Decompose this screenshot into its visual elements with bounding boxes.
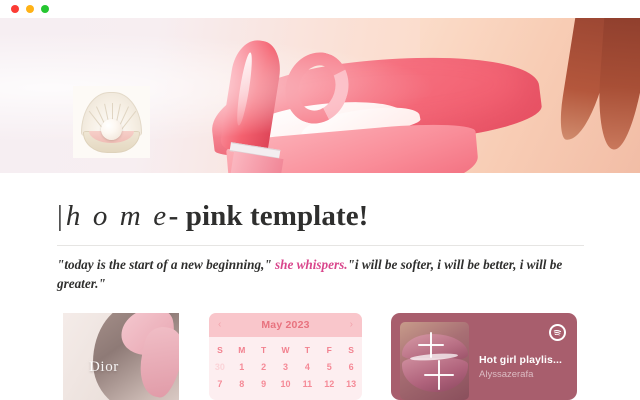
widgets-row: Dior ‹ May 2023 › S M T W T F S 30 1 2 bbox=[0, 307, 640, 400]
quote-part-1: "today is the start of a new beginning," bbox=[57, 257, 272, 272]
calendar-day[interactable]: 13 bbox=[340, 379, 362, 389]
page-content: |h o m e- pink template! "today is the s… bbox=[0, 173, 640, 293]
calendar-month-label: May 2023 bbox=[261, 319, 309, 331]
calendar-dow: W bbox=[275, 345, 297, 355]
calendar-dow: T bbox=[296, 345, 318, 355]
dior-image-card[interactable]: Dior bbox=[63, 313, 179, 400]
album-sparkle bbox=[430, 332, 432, 358]
spotify-embed-card[interactable]: Hot girl playlis... Alyssazerafa bbox=[391, 313, 577, 400]
close-button[interactable] bbox=[11, 5, 19, 13]
calendar-prev-button[interactable]: ‹ bbox=[218, 320, 221, 330]
calendar-week-row: 7 8 9 10 11 12 13 bbox=[209, 372, 362, 389]
calendar-dow: M bbox=[231, 345, 253, 355]
calendar-day[interactable]: 4 bbox=[296, 362, 318, 372]
calendar-weekday-row: S M T W T F S bbox=[209, 337, 362, 355]
spotify-playlist-owner: Alyssazerafa bbox=[479, 369, 571, 380]
calendar-day[interactable]: 1 bbox=[231, 362, 253, 372]
maximize-button[interactable] bbox=[41, 5, 49, 13]
page-title-home: h o m e bbox=[63, 200, 169, 232]
spotify-icon[interactable] bbox=[549, 324, 566, 341]
calendar-day[interactable]: 5 bbox=[318, 362, 340, 372]
calendar-header: ‹ May 2023 › bbox=[209, 313, 362, 337]
calendar-day[interactable]: 11 bbox=[296, 379, 318, 389]
spotify-album-art bbox=[400, 322, 469, 400]
quote-highlight: she whispers. bbox=[272, 257, 348, 272]
calendar-week-row: 30 1 2 3 4 5 6 bbox=[209, 355, 362, 372]
seashell-pearl-icon[interactable] bbox=[73, 86, 150, 158]
spotify-playlist-title: Hot girl playlis... bbox=[479, 354, 571, 366]
calendar-dow: T bbox=[253, 345, 275, 355]
pearl-shape bbox=[101, 119, 122, 140]
calendar-widget[interactable]: ‹ May 2023 › S M T W T F S 30 1 2 3 4 5 … bbox=[209, 313, 362, 400]
calendar-dow: S bbox=[209, 345, 231, 355]
app-window: |h o m e- pink template! "today is the s… bbox=[0, 0, 640, 400]
calendar-day[interactable]: 10 bbox=[275, 379, 297, 389]
calendar-dow: S bbox=[340, 345, 362, 355]
calendar-day[interactable]: 8 bbox=[231, 379, 253, 389]
album-sparkle bbox=[438, 360, 440, 390]
calendar-next-button[interactable]: › bbox=[350, 320, 353, 330]
calendar-day[interactable]: 2 bbox=[253, 362, 275, 372]
calendar-day[interactable]: 6 bbox=[340, 362, 362, 372]
title-divider bbox=[57, 245, 584, 246]
calendar-day[interactable]: 3 bbox=[275, 362, 297, 372]
minimize-button[interactable] bbox=[26, 5, 34, 13]
calendar-day[interactable]: 9 bbox=[253, 379, 275, 389]
window-titlebar bbox=[0, 0, 640, 18]
calendar-day[interactable]: 12 bbox=[318, 379, 340, 389]
calendar-dow: F bbox=[318, 345, 340, 355]
calendar-day[interactable]: 7 bbox=[209, 379, 231, 389]
page-title-rest: - pink template! bbox=[169, 200, 369, 232]
image-card-caption: Dior bbox=[89, 359, 119, 376]
spotify-meta: Hot girl playlis... Alyssazerafa bbox=[479, 354, 571, 380]
page-title[interactable]: |h o m e- pink template! bbox=[57, 202, 640, 231]
page-quote[interactable]: "today is the start of a new beginning,"… bbox=[57, 255, 569, 293]
calendar-day[interactable]: 30 bbox=[209, 362, 231, 372]
